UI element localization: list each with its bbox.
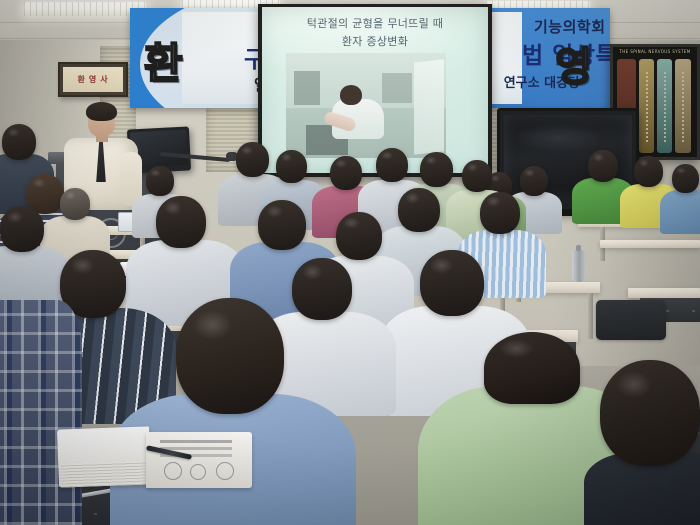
attendee-head	[236, 142, 269, 177]
attendee-torso	[660, 190, 700, 234]
attendee-head	[60, 188, 90, 220]
foreground-attendee-head	[600, 360, 700, 466]
handbook-page-edges	[60, 460, 149, 487]
wall-sign-char: 환	[77, 74, 85, 85]
wall-sign-char: 사	[100, 74, 108, 85]
desk	[628, 288, 700, 298]
banner-welcome-char-left: 환	[144, 30, 183, 91]
attendee-head	[462, 160, 492, 192]
presenter-head	[88, 106, 115, 137]
video-shelf	[294, 71, 320, 105]
attendee-head	[634, 156, 663, 187]
poster-figure-nervous-body	[657, 59, 672, 153]
wall-sign: 환 영 사	[58, 62, 128, 97]
video-patient-head	[340, 85, 362, 105]
attendee-head	[520, 166, 548, 196]
poster-figure-spine	[639, 59, 654, 153]
attendee-head	[0, 206, 44, 252]
desk	[600, 240, 700, 248]
presenter-hair	[86, 102, 117, 121]
projection-screen: 턱관절의 균형을 무너뜨릴 때 환자 증상변화	[262, 7, 488, 173]
video-shelf	[382, 73, 412, 103]
video-panel	[414, 59, 444, 154]
banner-welcome-char-right: 영	[555, 34, 592, 92]
attendee-head	[292, 258, 352, 320]
attendee-head	[376, 148, 408, 182]
foreground-attendee-head	[176, 298, 284, 414]
water-tumbler	[572, 250, 585, 282]
slide-heading-line1: 턱관절의 균형을 무너뜨릴 때	[262, 15, 488, 31]
attendee-head	[276, 150, 307, 183]
handbook-diagram	[190, 464, 206, 480]
attendee-head	[146, 166, 174, 196]
lecture-hall-photo: 환 영 사 CHA의과 구조의학 일시 : 7월 기능의학회 법 임상특강 연구…	[0, 0, 700, 525]
wall-sign-char: 영	[89, 74, 97, 85]
handbook-text-lines	[160, 440, 232, 443]
chair-back	[596, 300, 666, 340]
attendee-head	[330, 156, 362, 190]
attendee-head	[672, 164, 699, 193]
handbook-right-page	[146, 432, 252, 488]
attendee-head	[258, 200, 306, 250]
attendee-head	[480, 192, 520, 234]
handbook-diagram	[216, 462, 234, 480]
presenter-shirt	[91, 138, 111, 182]
foreground-attendee-head	[484, 332, 580, 404]
slide-heading-line2: 환자 증상변화	[262, 33, 488, 49]
attendee-head	[2, 124, 36, 160]
attendee-head	[588, 150, 618, 182]
handbook-diagram	[164, 462, 182, 480]
desk-leg	[588, 293, 593, 339]
poster-figure-skeleton	[675, 59, 691, 153]
slide-video-frame	[286, 53, 446, 158]
attendee-head	[420, 152, 453, 187]
anatomy-poster-title: THE SPINAL NERVOUS SYSTEM	[613, 49, 697, 54]
ceiling-light	[24, 2, 146, 16]
attendee-head	[336, 212, 382, 260]
attendee-head	[398, 188, 440, 232]
attendee-head	[156, 196, 206, 248]
attendee-head	[420, 250, 484, 316]
seminar-handbook	[58, 424, 254, 492]
handbook-left-page	[57, 426, 151, 487]
